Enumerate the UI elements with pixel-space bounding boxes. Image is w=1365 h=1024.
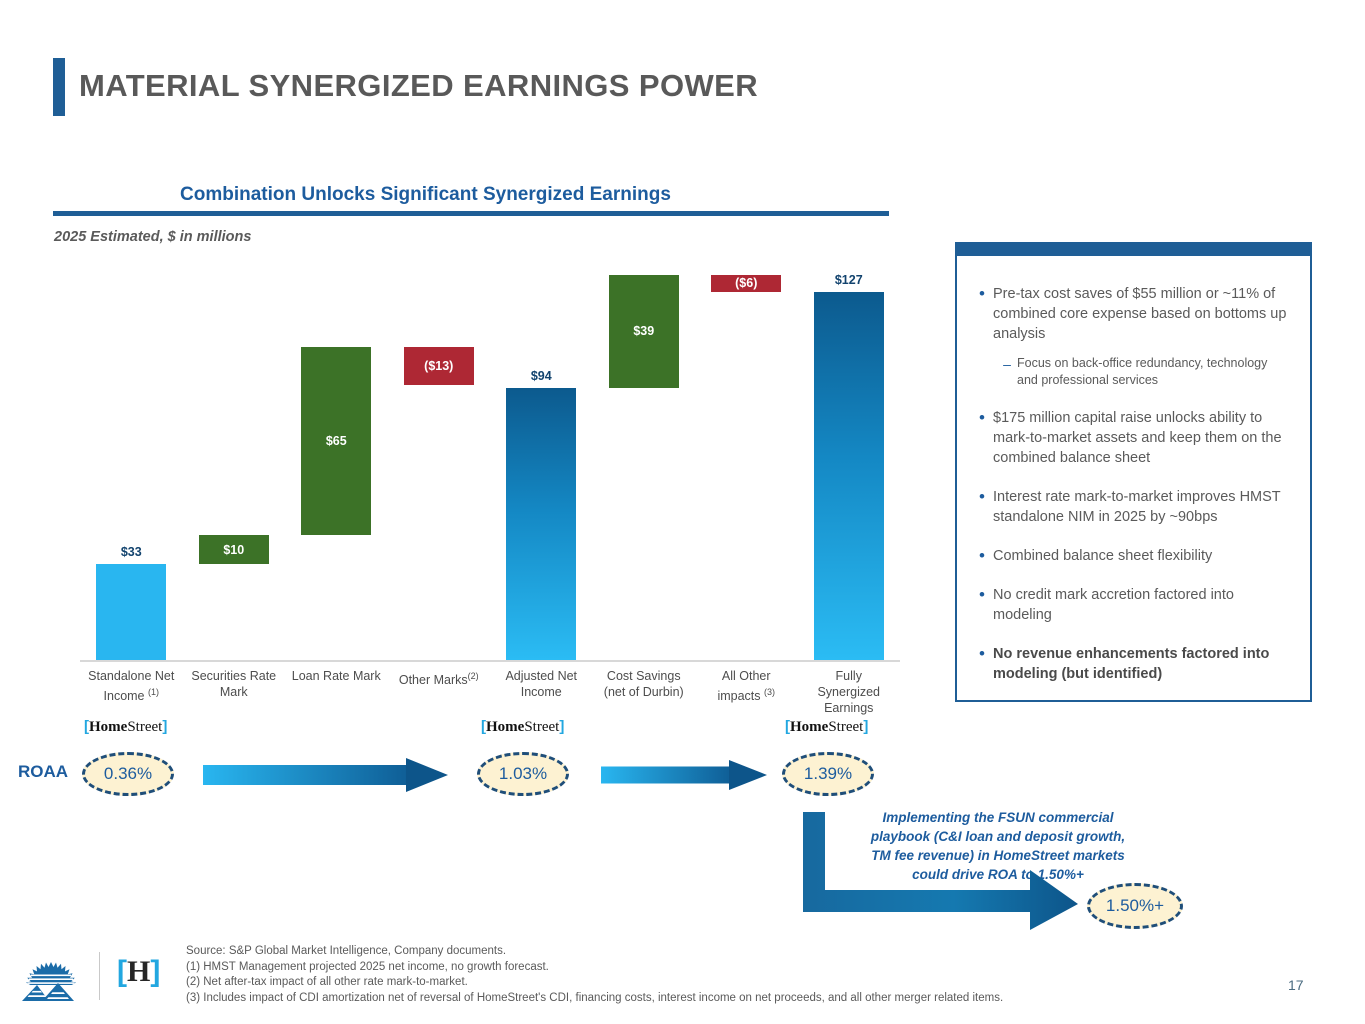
bullet-icon: •	[971, 284, 993, 344]
x-axis-label-7: All Otherimpacts (3)	[695, 668, 798, 704]
bar-value-label: $39	[609, 324, 679, 338]
footnotes: Source: S&P Global Market Intelligence, …	[186, 944, 1003, 1006]
tick-line-1: All Other	[695, 668, 798, 684]
chart-heading: Combination Unlocks Significant Synergiz…	[180, 184, 671, 206]
tick-line-1: Adjusted Net	[490, 668, 593, 684]
logo-street: Street	[127, 719, 162, 735]
page-title: MATERIAL SYNERGIZED EARNINGS POWER	[79, 68, 758, 104]
arrow-shaft	[601, 767, 731, 784]
key-point-text: No revenue enhancements factored into mo…	[993, 644, 1290, 684]
key-point-text: Pre-tax cost saves of $55 million or ~11…	[993, 284, 1290, 344]
chart-baseline	[80, 660, 900, 662]
key-point-item: •Pre-tax cost saves of $55 million or ~1…	[971, 284, 1290, 344]
key-point-sub-item: –Focus on back-office redundancy, techno…	[997, 355, 1290, 389]
x-axis-label-4: Other Marks(2)	[388, 668, 491, 688]
tick-line-1: Other Marks(2)	[388, 668, 491, 688]
bullet-icon: •	[971, 408, 993, 468]
tick-line-2: Income (1)	[80, 684, 183, 704]
roaa-value-adjusted: 1.03%	[477, 752, 569, 796]
tick-line-2: impacts (3)	[695, 684, 798, 704]
footnote-source: Source: S&P Global Market Intelligence, …	[186, 944, 1003, 960]
bar-other-marks-2: ($13)	[404, 347, 474, 385]
bar-cost-savings-net-of-durbin: $39	[609, 275, 679, 388]
footnote-3: (3) Includes impact of CDI amortization …	[186, 991, 1003, 1007]
bullet-icon: •	[971, 546, 993, 566]
roaa-target-value: 1.50%+	[1087, 883, 1183, 929]
tick-line-3: Earnings	[798, 700, 901, 716]
homestreet-logo-synergized: [HomeStreet]	[785, 718, 868, 736]
arrow-head	[729, 760, 767, 790]
logo-home: Home	[486, 719, 524, 735]
key-points-list: •Pre-tax cost saves of $55 million or ~1…	[957, 274, 1310, 703]
bullet-icon: •	[971, 644, 993, 684]
x-axis-label-6: Cost Savings(net of Durbin)	[593, 668, 696, 700]
bracket-left: [	[117, 955, 127, 988]
logo-street: Street	[828, 719, 863, 735]
bracket-right: ]	[150, 955, 160, 988]
bullet-icon: •	[971, 487, 993, 527]
bar-value-label: $127	[814, 273, 884, 287]
waterfall-chart: $33$10$65($13)$94$39($6)$127	[80, 240, 900, 660]
tick-line-1: Loan Rate Mark	[285, 668, 388, 684]
bar-value-label: ($6)	[711, 276, 781, 290]
key-point-text: Focus on back-office redundancy, technol…	[1017, 355, 1290, 389]
footer-divider	[99, 952, 100, 1000]
x-axis-label-2: Securities RateMark	[183, 668, 286, 700]
key-points-box: •Pre-tax cost saves of $55 million or ~1…	[955, 242, 1312, 702]
key-point-text: $175 million capital raise unlocks abili…	[993, 408, 1290, 468]
bar-securities-rate-mark: $10	[199, 535, 269, 564]
arrow-standalone-to-adjusted	[203, 758, 448, 792]
info-box-header-bar	[957, 244, 1310, 256]
roaa-label: ROAA	[18, 762, 68, 782]
logo-street: Street	[524, 719, 559, 735]
bracket-right: ]	[863, 718, 868, 735]
arrow-adjusted-to-synergized	[601, 760, 767, 790]
x-axis-label-1: Standalone NetIncome (1)	[80, 668, 183, 704]
tick-line-2: Income	[490, 684, 593, 700]
tick-note: (2)	[468, 671, 479, 681]
key-point-text: Combined balance sheet flexibility	[993, 546, 1290, 566]
x-axis-label-8: FullySynergizedEarnings	[798, 668, 901, 716]
tick-line-1: Securities Rate	[183, 668, 286, 684]
roaa-value-standalone: 0.36%	[82, 752, 174, 796]
footnote-2: (2) Net after-tax impact of all other ra…	[186, 975, 1003, 991]
key-point-item: •No credit mark accretion factored into …	[971, 585, 1290, 625]
key-point-item: •No revenue enhancements factored into m…	[971, 644, 1290, 684]
bar-value-label: $33	[96, 545, 166, 559]
x-axis-label-3: Loan Rate Mark	[285, 668, 388, 684]
bracket-right: ]	[162, 718, 167, 735]
logo-home: Home	[790, 719, 828, 735]
x-axis-label-5: Adjusted NetIncome	[490, 668, 593, 700]
tick-note: (1)	[148, 687, 159, 697]
tick-line-1: Fully	[798, 668, 901, 684]
roaa-value-synergized: 1.39%	[782, 752, 874, 796]
tick-line-1: Cost Savings	[593, 668, 696, 684]
arrow-head	[406, 758, 448, 792]
tick-line-2: (net of Durbin)	[593, 684, 696, 700]
arrow-shaft	[203, 765, 408, 785]
bar-fully-synergized-earnings: $127	[814, 292, 884, 660]
bar-value-label: $65	[301, 434, 371, 448]
tick-note: (3)	[764, 687, 775, 697]
title-accent-bar	[53, 58, 65, 116]
bar-loan-rate-mark: $65	[301, 347, 371, 535]
key-point-text: No credit mark accretion factored into m…	[993, 585, 1290, 625]
dash-bullet-icon: –	[997, 355, 1017, 389]
chart-heading-rule	[53, 211, 889, 216]
footnote-1: (1) HMST Management projected 2025 net i…	[186, 960, 1003, 976]
page-number: 17	[1288, 977, 1304, 993]
bar-all-other-impacts-3: ($6)	[711, 275, 781, 292]
homestreet-h-logo: [H]	[117, 955, 160, 989]
tick-line-1: Standalone Net	[80, 668, 183, 684]
fsun-sunrise-logo	[18, 958, 84, 1002]
homestreet-logo-adjusted: [HomeStreet]	[481, 718, 564, 736]
tick-line-2: Synergized	[798, 684, 901, 700]
key-point-text: Interest rate mark-to-market improves HM…	[993, 487, 1290, 527]
key-point-item: •Interest rate mark-to-market improves H…	[971, 487, 1290, 527]
bar-standalone-net-income-1: $33	[96, 564, 166, 660]
tick-line-2: Mark	[183, 684, 286, 700]
bar-adjusted-net-income: $94	[506, 388, 576, 660]
bar-value-label: $94	[506, 369, 576, 383]
key-point-item: •Combined balance sheet flexibility	[971, 546, 1290, 566]
bracket-right: ]	[559, 718, 564, 735]
bullet-icon: •	[971, 585, 993, 625]
homestreet-logo-standalone: [HomeStreet]	[84, 718, 167, 736]
bar-value-label: ($13)	[404, 359, 474, 373]
key-point-item: •$175 million capital raise unlocks abil…	[971, 408, 1290, 468]
bent-arrow-to-target	[800, 808, 1085, 933]
logo-home: Home	[89, 719, 127, 735]
bar-value-label: $10	[199, 543, 269, 557]
